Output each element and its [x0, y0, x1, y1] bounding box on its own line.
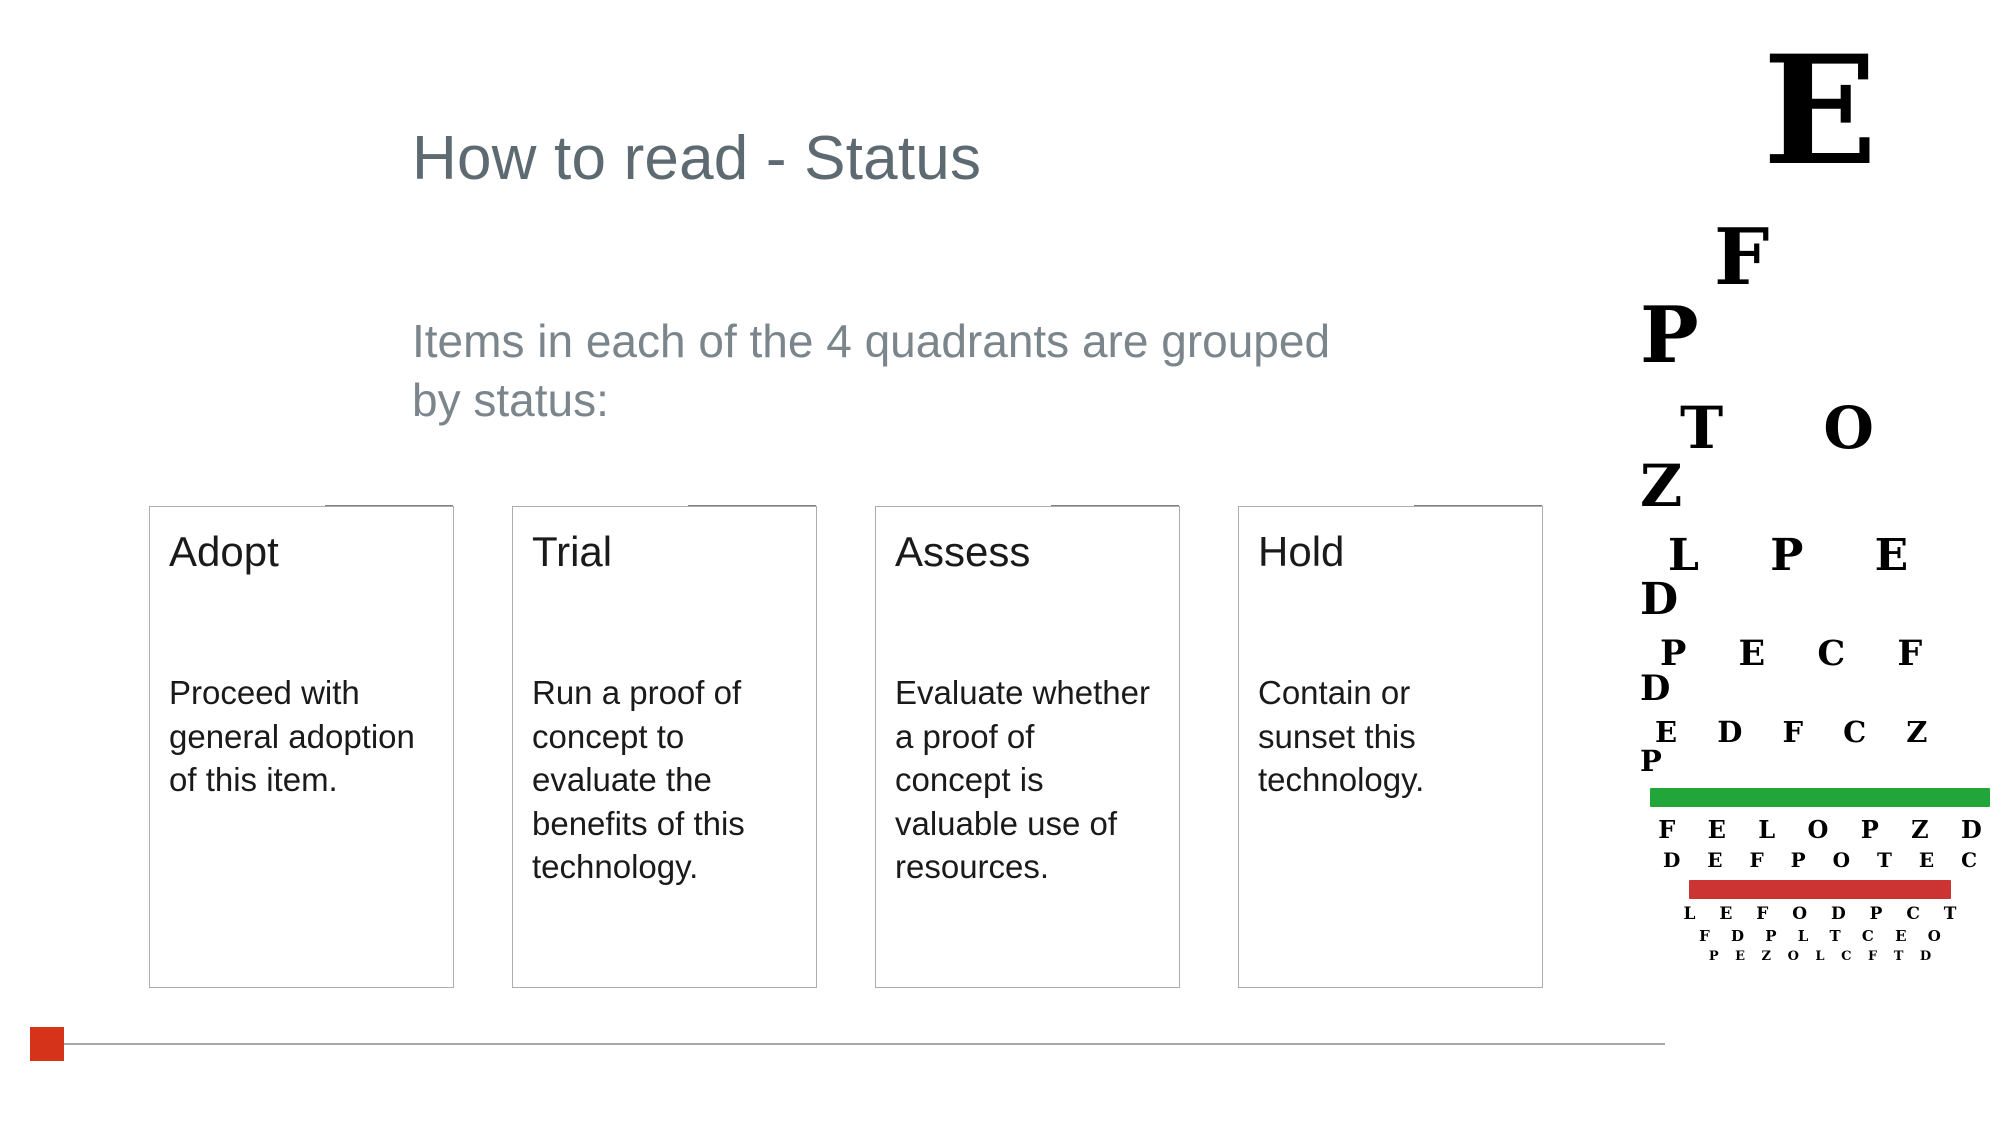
eye-chart-row: F D P L T C E O — [1640, 929, 2000, 944]
eye-chart-row: P E Z O L C F T D — [1640, 950, 2000, 963]
footer-divider — [64, 1043, 1665, 1045]
footer-accent-square — [30, 1027, 64, 1061]
eye-chart-row: E — [1640, 36, 2000, 186]
status-card-description: Contain or sunset this technology. — [1258, 671, 1516, 802]
status-card-assess[interactable]: AssessEvaluate whether a proof of concep… — [875, 506, 1180, 988]
status-card-description: Proceed with general adoption of this it… — [169, 671, 427, 802]
eye-chart-row: E D F C Z P — [1640, 718, 2000, 776]
status-card-description: Evaluate whether a proof of concept is v… — [895, 671, 1153, 889]
status-card-title: Assess — [895, 529, 1030, 575]
eye-chart-row: D E F P O T E C — [1640, 850, 2000, 870]
eye-chart-row: T O Z — [1640, 399, 2000, 515]
eye-chart-row: L P E D — [1640, 534, 2000, 622]
eye-chart-row: L E F O D P C T — [1640, 906, 2000, 923]
status-card-title: Adopt — [169, 529, 279, 575]
hold-ring-graphic — [1414, 505, 1542, 633]
status-card-trial[interactable]: TrialRun a proof of concept to evaluate … — [512, 506, 817, 988]
subtitle-text: Items in each of the 4 quadrants are gro… — [412, 312, 1372, 430]
trial-ring-graphic — [688, 505, 816, 633]
eye-chart-row: F P — [1640, 219, 2000, 375]
page-title: How to read - Status — [412, 124, 1512, 193]
eye-chart-row: F E L O P Z D — [1640, 818, 2000, 842]
status-cards-row: AdoptProceed with general adoption of th… — [149, 506, 1549, 988]
status-card-title: Hold — [1258, 529, 1344, 575]
status-card-adopt[interactable]: AdoptProceed with general adoption of th… — [149, 506, 454, 988]
slide-canvas: How to read - Status Items in each of th… — [0, 0, 2000, 1125]
assess-ring-graphic — [1051, 505, 1179, 633]
status-card-description: Run a proof of concept to evaluate the b… — [532, 671, 790, 889]
status-card-hold[interactable]: HoldContain or sunset this technology. — [1238, 506, 1543, 988]
eye-chart-green-bar — [1650, 788, 1990, 807]
status-card-title: Trial — [532, 529, 612, 575]
eye-chart-row: P E C F D — [1640, 636, 2000, 706]
adopt-ring-graphic — [325, 505, 453, 633]
eye-chart: EF PT O ZL P E DP E C F DE D F C Z PF E … — [1640, 28, 2000, 1118]
eye-chart-red-bar — [1689, 880, 1951, 899]
